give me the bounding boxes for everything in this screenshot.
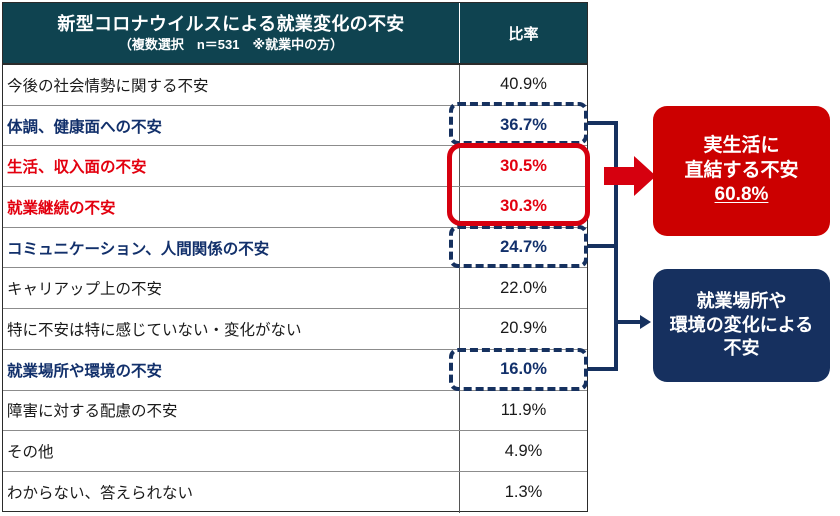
table-row: 就業継続の不安30.3% xyxy=(3,187,587,228)
table-row: 就業場所や環境の不安16.0% xyxy=(3,350,587,391)
table-cell-rate: 1.3% xyxy=(459,472,587,513)
survey-table: 新型コロナウイルスによる就業変化の不安 （複数選択 n＝531 ※就業中の方） … xyxy=(2,2,588,512)
table-row: わからない、答えられない1.3% xyxy=(3,472,587,513)
table-cell-rate: 4.9% xyxy=(459,431,587,471)
table-row: その他4.9% xyxy=(3,431,587,472)
table-row: 体調、健康面への不安36.7% xyxy=(3,106,587,147)
callout-navy-line3: 不安 xyxy=(670,337,813,360)
callout-navy-line1: 就業場所や xyxy=(670,290,813,313)
table-cell-rate: 40.9% xyxy=(459,65,587,105)
callout-real-life-anxiety: 実生活に 直結する不安 60.8% xyxy=(653,106,830,236)
callout-red-line1: 実生活に xyxy=(684,134,798,159)
table-row: コミュニケーション、人間関係の不安24.7% xyxy=(3,228,587,269)
table-cell-label: 生活、収入面の不安 xyxy=(3,146,459,186)
table-body: 今後の社会情勢に関する不安40.9%体調、健康面への不安36.7%生活、収入面の… xyxy=(3,65,587,513)
table-cell-rate: 24.7% xyxy=(459,228,587,268)
table-cell-rate: 36.7% xyxy=(459,106,587,146)
infographic-canvas: 新型コロナウイルスによる就業変化の不安 （複数選択 n＝531 ※就業中の方） … xyxy=(0,0,840,516)
table-cell-rate: 20.9% xyxy=(459,309,587,349)
table-cell-label: 障害に対する配慮の不安 xyxy=(3,391,459,431)
table-cell-label: 就業継続の不安 xyxy=(3,187,459,227)
table-cell-rate: 11.9% xyxy=(459,391,587,431)
table-cell-rate: 30.5% xyxy=(459,146,587,186)
table-title: 新型コロナウイルスによる就業変化の不安 xyxy=(57,14,404,35)
callout-red-line2: 直結する不安 xyxy=(684,159,798,184)
table-cell-label: コミュニケーション、人間関係の不安 xyxy=(3,228,459,268)
callout-red-value: 60.8% xyxy=(684,183,798,208)
table-cell-label: 就業場所や環境の不安 xyxy=(3,350,459,390)
table-cell-label: その他 xyxy=(3,431,459,471)
bracket-arrowhead-icon xyxy=(640,315,651,329)
bracket-lead-to-navy xyxy=(614,320,640,324)
table-header-rate-cell: 比率 xyxy=(459,3,587,63)
table-cell-label: キャリアップ上の不安 xyxy=(3,268,459,308)
table-cell-label: わからない、答えられない xyxy=(3,472,459,513)
table-row: 生活、収入面の不安30.5% xyxy=(3,146,587,187)
table-row: 今後の社会情勢に関する不安40.9% xyxy=(3,65,587,106)
table-row: 特に不安は特に感じていない・変化がない20.9% xyxy=(3,309,587,350)
table-row: 障害に対する配慮の不安11.9% xyxy=(3,391,587,432)
table-cell-label: 特に不安は特に感じていない・変化がない xyxy=(3,309,459,349)
callout-navy-line2: 環境の変化による xyxy=(670,314,813,337)
table-cell-rate: 16.0% xyxy=(459,350,587,390)
table-row: キャリアップ上の不安22.0% xyxy=(3,268,587,309)
table-cell-rate: 30.3% xyxy=(459,187,587,227)
table-cell-rate: 22.0% xyxy=(459,268,587,308)
red-arrow-icon xyxy=(604,155,656,197)
table-header-row: 新型コロナウイルスによる就業変化の不安 （複数選択 n＝531 ※就業中の方） … xyxy=(3,3,587,65)
table-cell-label: 今後の社会情勢に関する不安 xyxy=(3,65,459,105)
callout-workplace-change-anxiety: 就業場所や 環境の変化による 不安 xyxy=(653,269,830,382)
table-cell-label: 体調、健康面への不安 xyxy=(3,106,459,146)
table-header-title-cell: 新型コロナウイルスによる就業変化の不安 （複数選択 n＝531 ※就業中の方） xyxy=(3,3,459,63)
table-subtitle: （複数選択 n＝531 ※就業中の方） xyxy=(119,37,343,54)
